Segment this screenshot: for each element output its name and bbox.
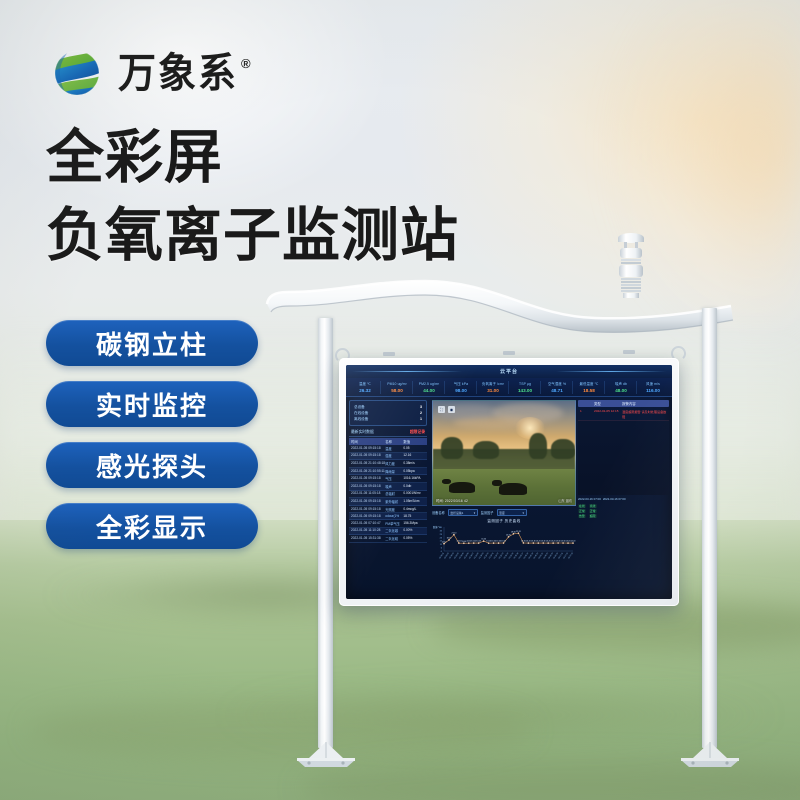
metric-1: PM10 ug/m³58.00 (382, 381, 413, 394)
chart-point-label: 23.50 (506, 535, 511, 537)
status-badge: 告警 (578, 514, 586, 518)
metric-value: 116.00 (638, 387, 668, 394)
cell-time: 2022-01-05 09:15:18 (351, 484, 385, 489)
expand-icon[interactable]: ⛶ (438, 406, 445, 413)
metric-2: PM2.5 ug/m³44.00 (414, 381, 445, 394)
device-select-label: 设备名称 (432, 510, 445, 515)
alarm-column-headers: 类型 报警内容 (578, 400, 669, 407)
cell-value: 0.05% (403, 536, 425, 541)
records-table-body: 2022-01-05 09:15:18温度0.052022-01-05 09:1… (349, 445, 427, 543)
cell-name: 二氧化碳 (385, 528, 403, 533)
y-axis-label: 数值/℃ (433, 525, 441, 529)
metrics-row: 温度 ℃26.32PM10 ug/m³58.00PM2.5 ug/m³44.00… (346, 378, 672, 397)
feature-pill-1: 实时监控 (46, 381, 258, 427)
support-post-right (702, 308, 717, 748)
chart-control-bar: 设备名称 监控设备1 ▾ 监测因子 温度 ▾ (432, 509, 576, 516)
cell-value: 18.75 (403, 514, 425, 518)
cell-name: 温度 (385, 446, 403, 451)
cell-time: 2022-01-05 09:15:18 (351, 499, 385, 504)
cell-value: 0.05kpa (403, 469, 425, 474)
metric-8: 噪声 db48.00 (606, 381, 637, 394)
cell-name: 湿度 (385, 453, 403, 458)
metric-0: 温度 ℃26.32 (350, 381, 381, 394)
table-row[interactable]: 2022-01-05 09:15:18噪声0.0db (349, 483, 427, 491)
device-select-value: 监控设备1 (450, 511, 463, 515)
records-column-headers: 时间 名称 数值 (349, 438, 427, 445)
metric-value: 48.00 (606, 387, 636, 394)
metric-9: 风速 m/s116.00 (638, 381, 668, 394)
cell-value: 0.0db (403, 484, 425, 489)
end-date[interactable]: 2022-03-16 07:00 (603, 497, 626, 501)
feature-pill-2: 感光探头 (46, 442, 258, 488)
chart-point-label: 13.20 (476, 541, 481, 543)
cell-value: 0.4mcg/L (403, 507, 425, 512)
table-row[interactable]: 2022-01-05 11:05:18总辐射0.0001W/m² (349, 491, 427, 499)
alarm-panel-empty-area (578, 421, 669, 495)
cell-value: 0.00% (403, 528, 425, 533)
device-stat-2: 离线设备1 (354, 416, 422, 422)
y-tick-label: 34 (440, 530, 443, 532)
tree (529, 433, 547, 459)
chart-point-label: 18.40 (447, 538, 452, 540)
tag-column: 离线正常超限 (589, 504, 597, 518)
chart-point-label: 13.20 (571, 541, 576, 543)
cell-name: odour(1% (385, 514, 403, 518)
cell-value: 1.05mS/cm (403, 499, 425, 504)
s-curve-canopy (265, 278, 735, 348)
metric-3: 气压 kPa98.00 (446, 381, 477, 394)
tag-column: 在线正常告警 (578, 504, 586, 518)
cell-name: 光照度 (385, 507, 403, 512)
table-row[interactable]: 2022-01-05 09:15:18光照度0.4mcg/L (349, 506, 427, 514)
mount-bolt (383, 352, 395, 356)
cell-name: PM单气压 (385, 521, 403, 526)
title-decoration-right (556, 371, 666, 372)
table-row[interactable]: 2022-01-05 21:10:55:11降雨量0.05kpa (349, 468, 427, 476)
metric-value: 48.71 (542, 387, 572, 394)
led-display-screen: 云平台 温度 ℃26.32PM10 ug/m³58.00PM2.5 ug/m³4… (346, 365, 672, 599)
cell-value: 1016.16kPA (403, 476, 425, 481)
camera-watermark: 山东 潍坊 (558, 498, 572, 503)
y-tick-label: 11 (440, 544, 443, 546)
factor-select[interactable]: 温度 ▾ (497, 509, 527, 516)
metric-7: 最低温度 ℃18.58 (574, 381, 605, 394)
cell-value: 156.3Mpa (403, 521, 425, 526)
date-range-controls: 2022-03-16 07:00 2022-03-16 07:00 (578, 497, 669, 501)
metric-5: TSP µg143.00 (510, 381, 541, 394)
table-row[interactable]: 2022-01-05 09:15:18气压1016.16kPA (349, 475, 427, 483)
cell-name: 降雨量 (385, 469, 403, 474)
cell-time: 2022-01-05 09:15:18 (351, 476, 385, 481)
chart-canvas: 06111723293440数值/℃12.1003-16 0118.4003-1… (432, 524, 576, 560)
cell-time: 2022-01-05 09:15:18 (351, 453, 385, 458)
cell-time: 2022-01-05 11:10:28 (351, 528, 385, 533)
metric-4: 负氧离子 /cm³31.00 (478, 381, 509, 394)
cell-name: 二氧化硫 (385, 536, 403, 541)
cell-time: 2022-01-05 21:10:48:18 (351, 461, 385, 466)
alarm-table-body: 12022-01-05 12:15温度超限报警 请及时处理设备故障 (578, 407, 669, 420)
table-row[interactable]: 2022-01-05 09:15:18odour(1%18.75 (349, 513, 427, 520)
records-warning-label: 超限记录 (410, 430, 425, 435)
chevron-down-icon: ▾ (523, 511, 524, 515)
brand-logo: 万象系 ® (48, 44, 251, 102)
alarm-text: 温度超限报警 请及时处理设备故障 (622, 409, 667, 419)
alarm-row[interactable]: 12022-01-05 12:15温度超限报警 请及时处理设备故障 (578, 407, 669, 420)
table-row[interactable]: 2022-01-05 09:15:18紫外辐射1.05mS/cm (349, 498, 427, 506)
cell-time: 2022-01-05 11:05:18 (351, 491, 385, 496)
cell-name: 气压 (385, 476, 403, 481)
monitoring-station-kiosk: 云平台 温度 ℃26.32PM10 ug/m³58.00PM2.5 ug/m³4… (255, 230, 755, 775)
cell-value: 12.16 (403, 453, 425, 458)
cell-value: 0.38m/s (403, 461, 425, 466)
chart-axes (444, 527, 573, 551)
headline-primary: 全彩屏 (46, 128, 223, 186)
title-decoration-left (352, 371, 462, 372)
table-row[interactable]: 2022-01-05 11:10:28二氧化碳0.00% (349, 528, 427, 536)
camera-controls: ⛶ ◉ (438, 406, 455, 413)
table-row[interactable]: 2022-01-05 15:31:38二氧化硫0.05% (349, 535, 427, 543)
tree (473, 441, 499, 459)
cell-value: 0.0001W/m² (403, 491, 425, 496)
col-time: 时间 (351, 439, 385, 444)
screen-title-bar: 云平台 (346, 365, 672, 378)
alarm-col-type: 类型 (594, 401, 622, 406)
table-row[interactable]: 2022-01-05 21:10:48:18风力度0.38m/s (349, 460, 427, 468)
camera-capture-icon[interactable]: ◉ (448, 406, 455, 413)
cell-time: 2022-01-05 09:15:18 (351, 446, 385, 451)
camera-timestamp: 时间: 2022/03/16 42 (436, 498, 468, 503)
tree (551, 439, 575, 459)
metric-value: 31.00 (478, 387, 508, 394)
screen-left-column: 总设备3在线设备2离线设备1 最新实时数据 超限记录 时间 名称 数值 2022… (346, 397, 430, 565)
device-select[interactable]: 监控设备1 ▾ (448, 509, 478, 516)
cell-name: 噪声 (385, 484, 403, 489)
cell-name: 紫外辐射 (385, 499, 403, 504)
col-value: 数值 (403, 439, 425, 444)
chart-point-label: 29.70 (516, 531, 521, 533)
screen-title: 云平台 (500, 368, 518, 375)
status-badge: 在线 (578, 504, 586, 508)
table-row[interactable]: 2022-01-05 07:10:47PM单气压156.3Mpa (349, 520, 427, 528)
feature-pill-0: 碳钢立柱 (46, 320, 258, 366)
chart-point-label: 13.30 (501, 541, 506, 543)
status-badge: 超限 (589, 514, 597, 518)
y-tick-label: 29 (440, 534, 443, 536)
cell-time: 2022-01-05 09:15:18 (351, 514, 385, 518)
cell-time: 2022-01-05 09:15:18 (351, 507, 385, 512)
y-tick-label: 23 (440, 537, 443, 539)
chevron-down-icon: ▾ (474, 511, 475, 515)
cow (449, 482, 475, 493)
alarm-idx: 1 (580, 409, 594, 419)
mount-bolt (503, 351, 515, 355)
col-name: 名称 (385, 439, 403, 444)
table-row[interactable]: 2022-01-05 09:15:18温度0.05 (349, 445, 427, 453)
feature-pill-list: 碳钢立柱 实时监控 感光探头 全彩显示 (46, 320, 258, 549)
history-chart: 监测因子 历史曲线 06111723293440数值/℃12.1003-16 0… (432, 518, 576, 562)
records-title: 最新实时数据 (351, 430, 374, 435)
metric-value: 44.00 (414, 387, 444, 394)
cell-name: 风力度 (385, 461, 403, 466)
product-marketing-image: 万象系 ® 全彩屏 负氧离子监测站 碳钢立柱 实时监控 感光探头 全彩显示 (0, 0, 800, 800)
y-tick-label: 6 (441, 548, 443, 550)
anchor-base-plate-right (679, 740, 741, 768)
status-badge: 正常 (589, 509, 597, 513)
brand-name: 万象系 (118, 52, 238, 93)
records-panel-header: 最新实时数据 超限记录 (349, 429, 427, 437)
start-date[interactable]: 2022-03-16 07:00 (578, 497, 601, 501)
metric-value: 98.00 (446, 387, 476, 394)
status-badge: 正常 (578, 509, 586, 513)
metric-value: 26.32 (350, 387, 380, 394)
x-tick-label: 03-17 03 (568, 552, 574, 559)
screen-center-column: ⛶ ◉ 时间: 2022/03/16 42 山东 潍坊 设备名称 监控设备1 ▾… (430, 397, 578, 565)
tree (441, 437, 463, 459)
chart-point-label: 12.10 (442, 541, 447, 543)
metric-value: 18.58 (574, 387, 604, 394)
status-badge: 离线 (589, 504, 597, 508)
metric-value: 143.00 (510, 387, 540, 394)
cell-time: 2022-01-05 07:10:47 (351, 521, 385, 526)
status-tag-grid: 在线正常告警离线正常超限 (578, 504, 669, 518)
screen-right-column: 类型 报警内容 12022-01-05 12:15温度超限报警 请及时处理设备故… (578, 397, 672, 565)
table-row[interactable]: 2022-01-05 09:15:18湿度12.16 (349, 453, 427, 461)
device-stats-box: 总设备3在线设备2离线设备1 (349, 400, 427, 426)
screen-body: 总设备3在线设备2离线设备1 最新实时数据 超限记录 时间 名称 数值 2022… (346, 397, 672, 565)
alarm-col-idx (580, 401, 594, 406)
metric-6: 空气湿度 %48.71 (542, 381, 573, 394)
chart-point-label: 27.10 (452, 532, 457, 534)
globe-swoosh-logo-icon (48, 44, 106, 102)
factor-select-value: 温度 (499, 511, 505, 515)
feature-pill-3: 全彩显示 (46, 503, 258, 549)
cell-time: 2022-01-05 21:10:55:11 (351, 469, 385, 474)
cell-time: 2022-01-05 15:31:38 (351, 536, 385, 541)
stat-value: 1 (420, 416, 422, 422)
cell-value: 0.05 (403, 446, 425, 451)
factor-select-label: 监测因子 (481, 510, 494, 515)
anchor-base-plate-left (295, 740, 357, 768)
alarm-col-text: 报警内容 (622, 401, 667, 406)
alarm-type: 2022-01-05 12:15 (594, 409, 622, 419)
support-post-left (318, 318, 333, 748)
cell-name: 总辐射 (385, 491, 403, 496)
stat-label: 离线设备 (354, 416, 368, 422)
cow (499, 483, 527, 495)
trademark-symbol: ® (241, 56, 251, 71)
camera-feed: ⛶ ◉ 时间: 2022/03/16 42 山东 潍坊 (432, 400, 576, 506)
mount-bolt (623, 350, 635, 354)
metric-value: 58.00 (382, 387, 412, 394)
